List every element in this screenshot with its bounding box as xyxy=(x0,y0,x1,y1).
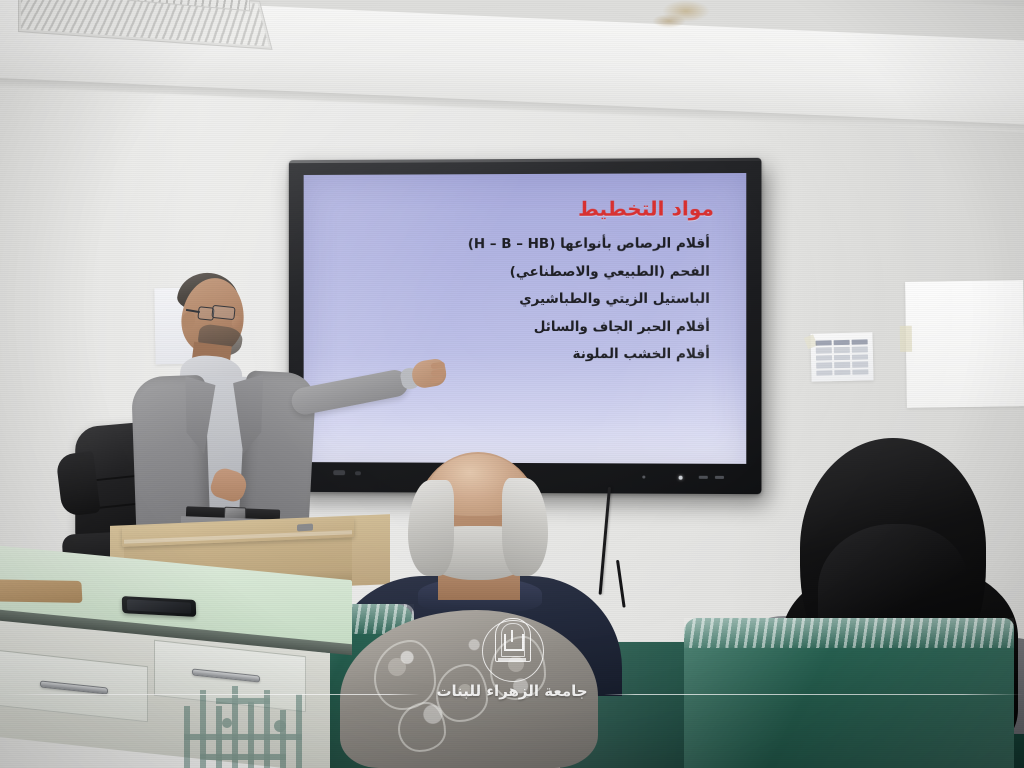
lecture-hall-photo: مواد التخطيط أقلام الرصاص بأنواعها (H – … xyxy=(0,0,1024,768)
scarf-paisley-motif xyxy=(374,640,436,710)
printed-table xyxy=(816,339,869,375)
wooden-board-on-desk xyxy=(0,579,82,603)
finger xyxy=(431,368,447,376)
table-row xyxy=(816,339,868,346)
status-dot-icon xyxy=(642,476,645,479)
table-row xyxy=(816,354,868,361)
green-chair-right[interactable] xyxy=(684,618,1014,768)
scarf-swirl xyxy=(458,684,472,698)
tape-strip xyxy=(900,326,912,352)
slide-line: أقلام الرصاص بأنواعها (H – B – HB) xyxy=(304,238,710,252)
table-row xyxy=(816,369,868,376)
plastic-sheen xyxy=(684,618,1014,768)
control-button-icon[interactable] xyxy=(715,476,724,479)
attendee-patterned-scarf xyxy=(340,610,610,768)
eyeglasses-lens-icon xyxy=(211,305,235,320)
chair-armrest xyxy=(55,451,100,517)
attendee-hair-right xyxy=(502,478,548,576)
attendee-hair-left xyxy=(408,480,454,576)
power-led-icon[interactable] xyxy=(679,476,683,480)
wall-paper-large xyxy=(905,280,1024,408)
pale-green-desk xyxy=(0,562,380,768)
podium-clip xyxy=(297,524,313,532)
scarf-swirl xyxy=(388,658,406,676)
table-row xyxy=(816,347,868,354)
ceiling-stain-secondary xyxy=(652,14,686,28)
scarf-swirl xyxy=(508,656,524,672)
wall-paper-small xyxy=(810,332,873,382)
scarf-paisley-motif xyxy=(398,702,446,752)
phone-screen xyxy=(127,599,191,613)
slide-title: مواد التخطيط xyxy=(304,197,714,220)
presenter-pointing-arm xyxy=(289,368,410,417)
control-button-icon[interactable] xyxy=(699,476,708,479)
table-row xyxy=(816,362,868,369)
finger xyxy=(430,376,444,384)
